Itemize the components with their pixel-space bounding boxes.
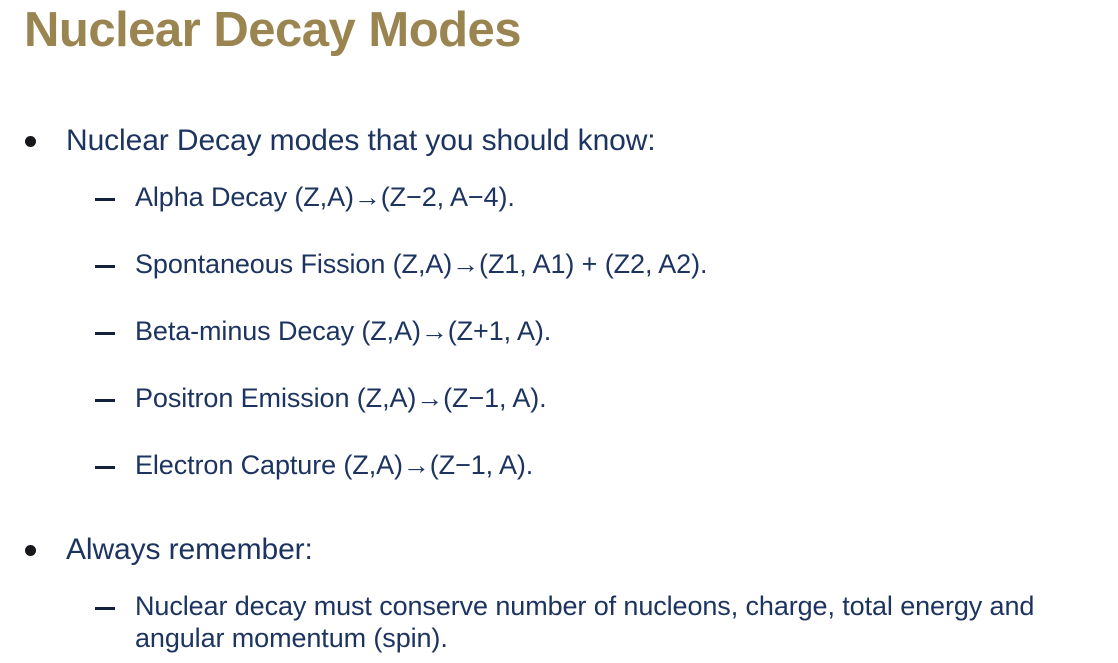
dash-marker-icon (95, 466, 115, 469)
list-item-spontaneous-fission: Spontaneous Fission (Z,A)→(Z1, A1) + (Z2… (0, 249, 1118, 316)
decay-mode-label: Electron Capture (Z,A)→(Z−1, A). (135, 450, 533, 480)
spacer (0, 517, 1118, 533)
bullet-dot-icon (25, 136, 36, 147)
slide: Nuclear Decay Modes Nuclear Decay modes … (0, 0, 1118, 663)
decay-mode-label: Beta-minus Decay (Z,A)→(Z+1, A). (135, 316, 551, 346)
slide-body: Nuclear Decay modes that you should know… (0, 124, 1118, 655)
remember-note-list: Nuclear decay must conserve number of nu… (0, 591, 1118, 655)
page-title: Nuclear Decay Modes (24, 2, 521, 58)
list-item-conservation-note: Nuclear decay must conserve number of nu… (0, 591, 1118, 655)
conservation-note-label: Nuclear decay must conserve number of nu… (135, 591, 1034, 653)
decay-mode-label: Spontaneous Fission (Z,A)→(Z1, A1) + (Z2… (135, 249, 707, 279)
bullet-item-intro: Nuclear Decay modes that you should know… (0, 124, 1118, 168)
list-item-positron-emission: Positron Emission (Z,A)→(Z−1, A). (0, 383, 1118, 450)
list-item-alpha-decay: Alpha Decay (Z,A)→(Z−2, A−4). (0, 182, 1118, 249)
dash-marker-icon (95, 198, 115, 201)
list-item-beta-minus-decay: Beta-minus Decay (Z,A)→(Z+1, A). (0, 316, 1118, 383)
dash-marker-icon (95, 332, 115, 335)
decay-mode-label: Positron Emission (Z,A)→(Z−1, A). (135, 383, 547, 413)
bullet-remember-label: Always remember: (66, 533, 313, 566)
decay-mode-list: Alpha Decay (Z,A)→(Z−2, A−4). Spontaneou… (0, 182, 1118, 517)
dash-marker-icon (95, 399, 115, 402)
decay-mode-label: Alpha Decay (Z,A)→(Z−2, A−4). (135, 182, 515, 212)
bullet-item-always-remember: Always remember: (0, 533, 1118, 577)
bullet-dot-icon (25, 545, 36, 556)
list-item-electron-capture: Electron Capture (Z,A)→(Z−1, A). (0, 450, 1118, 517)
dash-marker-icon (95, 607, 115, 610)
dash-marker-icon (95, 265, 115, 268)
bullet-intro-label: Nuclear Decay modes that you should know… (66, 124, 656, 157)
